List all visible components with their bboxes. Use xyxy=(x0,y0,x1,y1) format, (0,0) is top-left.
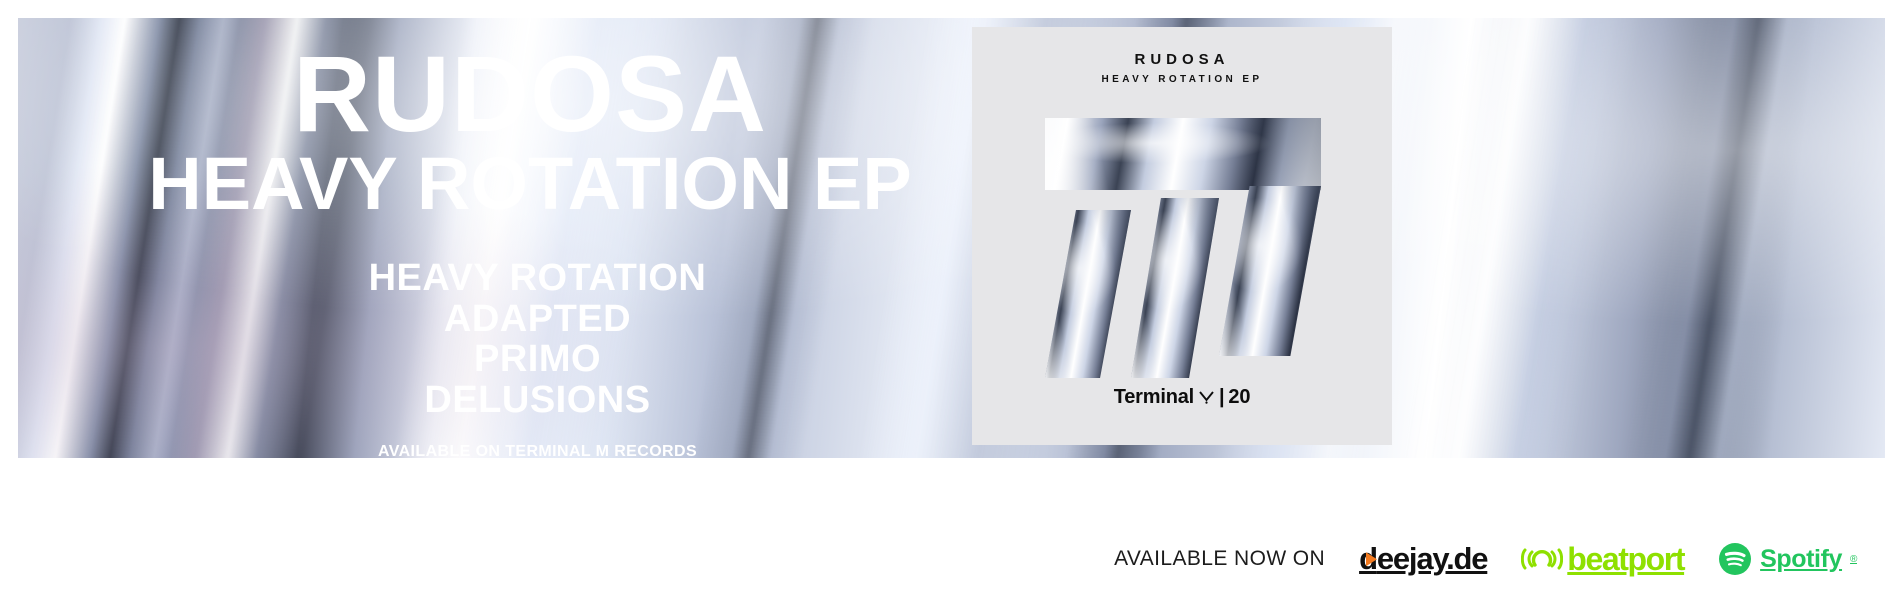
spotify-wordmark: Spotify xyxy=(1760,545,1842,574)
terminal-m-wordmark: Terminal xyxy=(1114,386,1194,409)
track-item: DELUSIONS xyxy=(0,380,1075,421)
terminal-m-anniversary: 20 xyxy=(1228,386,1250,409)
beatport-wordmark: beatport xyxy=(1567,541,1684,578)
store-availability-footer: AVAILABLE NOW ON d eejay.de beatport xyxy=(0,523,1903,595)
beatport-logo-link[interactable]: beatport xyxy=(1521,541,1684,578)
cover-artist-name: RUDOSA xyxy=(972,51,1392,68)
label-availability-line: AVAILABLE ON TERMINAL M RECORDS xyxy=(0,443,1075,461)
cover-artwork xyxy=(1045,118,1321,378)
artist-name: RUDOSA xyxy=(0,44,1060,143)
track-item: PRIMO xyxy=(0,339,1075,380)
chrome-band xyxy=(1383,18,1659,458)
chrome-shard xyxy=(1219,186,1321,356)
play-triangle-icon xyxy=(1366,552,1377,566)
terminal-m-mark-icon xyxy=(1198,389,1215,406)
deejay-de-wordmark: eejay.de xyxy=(1377,541,1487,577)
terminal-m-divider-icon: | xyxy=(1219,386,1224,409)
deejay-de-logo-link[interactable]: d eejay.de xyxy=(1359,541,1487,577)
chrome-shard xyxy=(1045,210,1131,378)
chrome-band xyxy=(1607,18,1846,458)
cover-release-title: HEAVY ROTATION EP xyxy=(972,74,1392,85)
cover-label-logo: Terminal | 20 xyxy=(972,386,1392,409)
chrome-shard xyxy=(1045,118,1321,190)
track-item: HEAVY ROTATION xyxy=(0,258,1075,299)
spotify-logo-link[interactable]: Spotify ® xyxy=(1718,542,1857,576)
release-title: HEAVY ROTATION EP xyxy=(0,147,1060,221)
available-now-label: AVAILABLE NOW ON xyxy=(1114,547,1325,571)
release-banner: RUDOSA HEAVY ROTATION EP HEAVY ROTATION … xyxy=(0,0,1903,595)
spotify-trademark-symbol: ® xyxy=(1850,554,1857,565)
tracklist-block: HEAVY ROTATION ADAPTED PRIMO DELUSIONS A… xyxy=(0,258,1075,461)
beatport-mark-icon xyxy=(1521,544,1563,574)
album-cover: RUDOSA HEAVY ROTATION EP Terminal | 20 xyxy=(972,27,1392,445)
headline-block: RUDOSA HEAVY ROTATION EP xyxy=(0,44,1060,221)
cover-header: RUDOSA HEAVY ROTATION EP xyxy=(972,27,1392,85)
chrome-shard xyxy=(1131,198,1219,378)
track-item: ADAPTED xyxy=(0,299,1075,340)
spotify-mark-icon xyxy=(1718,542,1752,576)
